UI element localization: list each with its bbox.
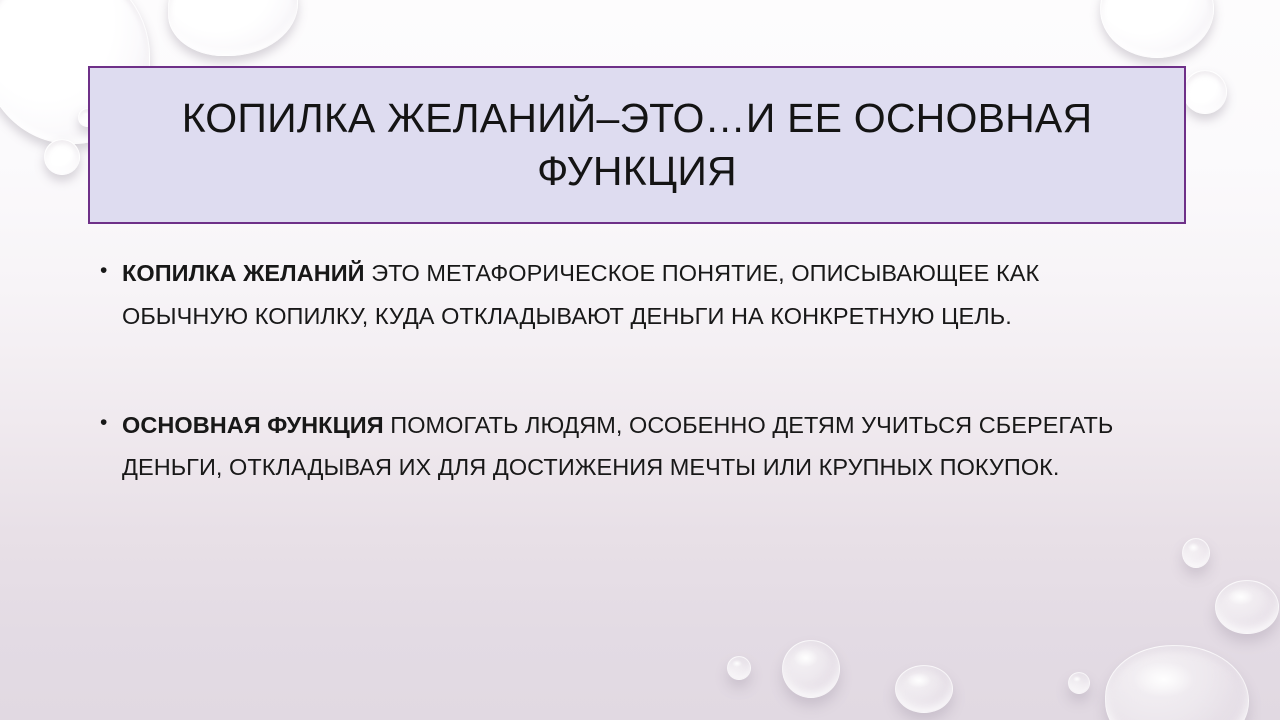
droplet-icon [895, 665, 953, 713]
bullet-marker-icon: • [100, 404, 122, 442]
presentation-slide: КОПИЛКА ЖЕЛАНИЙ–ЭТО…И ЕЕ ОСНОВНАЯ ФУНКЦИ… [0, 0, 1280, 720]
list-item-text: КОПИЛКА ЖЕЛАНИЙ ЭТО МЕТАФОРИЧЕСКОЕ ПОНЯТ… [122, 252, 1170, 338]
page-title: КОПИЛКА ЖЕЛАНИЙ–ЭТО…И ЕЕ ОСНОВНАЯ ФУНКЦИ… [112, 92, 1162, 199]
list-item-lead: ОСНОВНАЯ ФУНКЦИЯ [122, 412, 384, 438]
droplet-icon [1182, 538, 1210, 568]
list-item: • ОСНОВНАЯ ФУНКЦИЯ ПОМОГАТЬ ЛЮДЯМ, ОСОБЕ… [100, 404, 1170, 490]
droplet-icon [1215, 580, 1279, 634]
droplet-icon [168, 0, 298, 56]
body-content-list: • КОПИЛКА ЖЕЛАНИЙ ЭТО МЕТАФОРИЧЕСКОЕ ПОН… [100, 252, 1170, 489]
droplet-icon [1183, 70, 1227, 114]
title-box: КОПИЛКА ЖЕЛАНИЙ–ЭТО…И ЕЕ ОСНОВНАЯ ФУНКЦИ… [88, 66, 1186, 224]
droplet-icon [1105, 645, 1249, 720]
list-item-text: ОСНОВНАЯ ФУНКЦИЯ ПОМОГАТЬ ЛЮДЯМ, ОСОБЕНН… [122, 404, 1170, 490]
droplet-icon [782, 640, 840, 698]
droplet-icon [44, 139, 80, 175]
bullet-marker-icon: • [100, 252, 122, 290]
list-item-lead: КОПИЛКА ЖЕЛАНИЙ [122, 260, 365, 286]
droplet-icon [1100, 0, 1214, 58]
droplet-icon [1068, 672, 1090, 694]
list-item: • КОПИЛКА ЖЕЛАНИЙ ЭТО МЕТАФОРИЧЕСКОЕ ПОН… [100, 252, 1170, 338]
droplet-icon [727, 656, 751, 680]
